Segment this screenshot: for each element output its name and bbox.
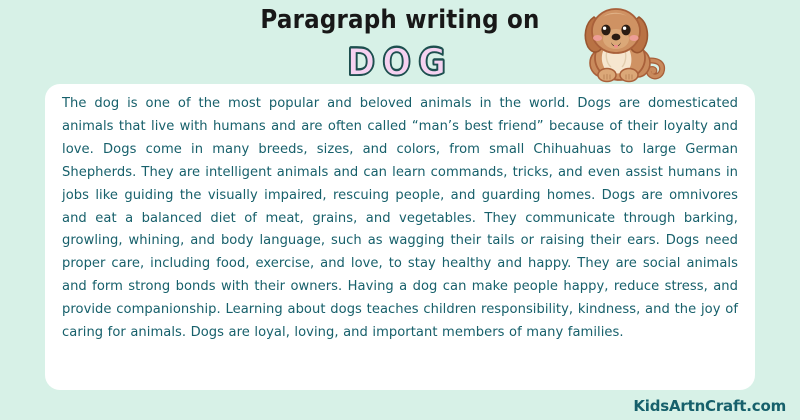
watermark-label: KidsArtnCraft.com xyxy=(633,397,786,415)
page-title: Paragraph writing on xyxy=(0,8,800,34)
dog-illustration xyxy=(583,1,671,85)
title-subject-word: DOG xyxy=(0,44,800,81)
poster-root: Paragraph writing on DOG xyxy=(0,0,800,420)
paragraph-body-text: The dog is one of the most popular and b… xyxy=(62,93,738,345)
paragraph-card: The dog is one of the most popular and b… xyxy=(45,84,755,390)
header: Paragraph writing on DOG xyxy=(0,0,800,86)
title-block: Paragraph writing on DOG xyxy=(0,8,800,78)
